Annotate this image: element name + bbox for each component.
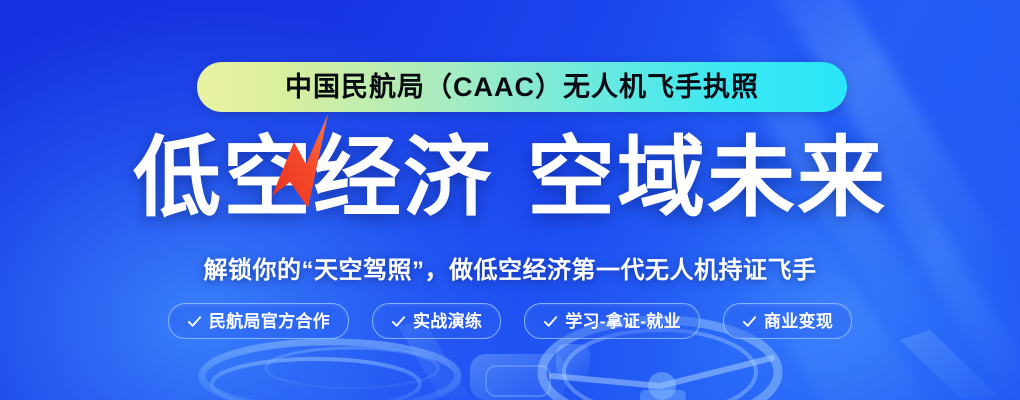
promo-banner: 中国民航局（CAAC）无人机飞手执照 低空经济 空域未来 解锁你的“天空驾照”，… — [0, 0, 1020, 400]
drone-silhouette-center — [470, 344, 590, 400]
certification-badge: 中国民航局（CAAC）无人机飞手执照 — [197, 62, 847, 112]
feature-pill-list: 民航局官方合作 实战演练 学习-拿证-就业 商业变现 — [0, 303, 1020, 339]
certification-badge-label: 中国民航局（CAAC）无人机飞手执照 — [285, 74, 759, 101]
feature-pill-label: 民航局官方合作 — [209, 313, 330, 330]
feature-pill-2[interactable]: 学习-拿证-就业 — [524, 303, 700, 339]
feature-pill-label: 商业变现 — [764, 313, 833, 330]
feature-pill-label: 实战演练 — [413, 313, 482, 330]
feature-pill-3[interactable]: 商业变现 — [723, 303, 852, 339]
page-title: 低空经济 空域未来 — [0, 128, 1020, 228]
check-icon — [187, 314, 202, 329]
drone-arm-right — [900, 330, 1000, 398]
drone-artwork — [0, 280, 1020, 400]
check-icon — [391, 314, 406, 329]
drone-silhouette-left — [202, 342, 458, 400]
headline-part-1: 低空经济 — [133, 134, 493, 222]
subtitle: 解锁你的“天空驾照”，做低空经济第一代无人机持证飞手 — [0, 250, 1020, 285]
check-icon — [543, 314, 558, 329]
feature-pill-0[interactable]: 民航局官方合作 — [168, 303, 349, 339]
headline-part-2: 空域未来 — [527, 134, 887, 222]
check-icon — [742, 314, 757, 329]
feature-pill-1[interactable]: 实战演练 — [372, 303, 501, 339]
feature-pill-label: 学习-拿证-就业 — [565, 313, 681, 330]
